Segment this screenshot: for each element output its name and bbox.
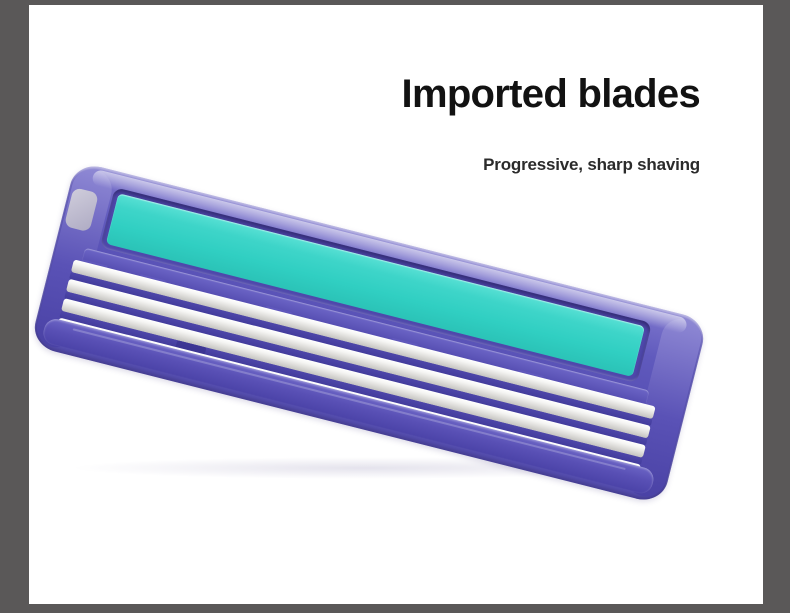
headline: Imported blades (398, 71, 700, 117)
subheadline: Progressive, sharp shaving (398, 153, 700, 177)
product-banner: Imported blades Progressive, sharp shavi… (0, 0, 790, 613)
razor-cartridge (30, 161, 709, 505)
banner-canvas: Imported blades Progressive, sharp shavi… (29, 5, 763, 604)
